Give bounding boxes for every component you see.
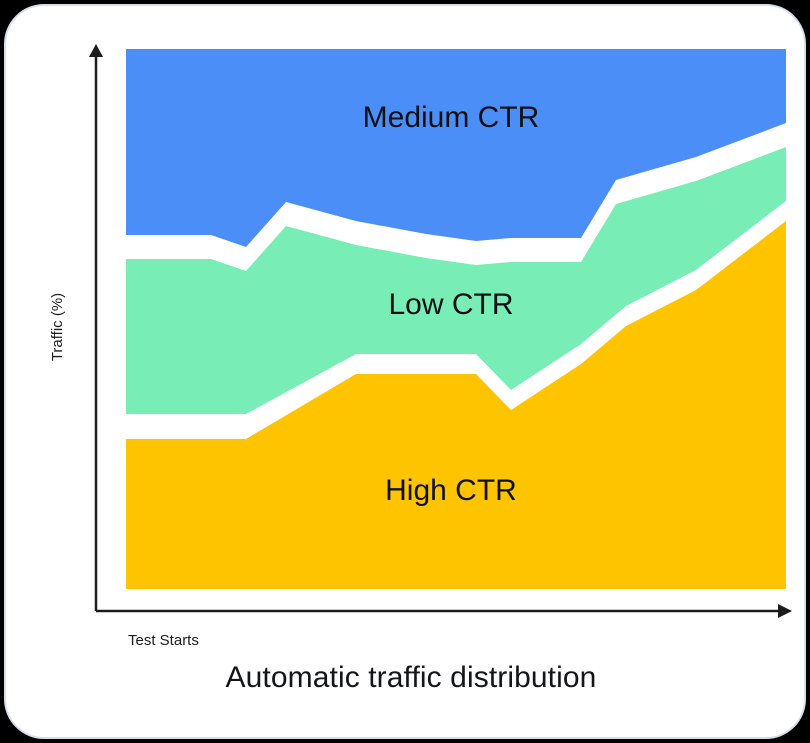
arrow-right-icon bbox=[778, 604, 792, 618]
chart-caption: Automatic traffic distribution bbox=[6, 661, 806, 695]
stacked-area-chart: Medium CTR Low CTR High CTR Traffic (%) … bbox=[6, 6, 806, 739]
y-axis-label: Traffic (%) bbox=[49, 293, 66, 361]
chart-card: Medium CTR Low CTR High CTR Traffic (%) … bbox=[4, 4, 806, 739]
arrow-up-icon bbox=[89, 44, 103, 57]
band-label-low-ctr: Low CTR bbox=[388, 288, 513, 321]
x-axis-label: Test Starts bbox=[128, 632, 199, 649]
band-label-medium-ctr: Medium CTR bbox=[363, 101, 540, 134]
screenshot-root: Medium CTR Low CTR High CTR Traffic (%) … bbox=[0, 0, 810, 743]
band-label-high-ctr: High CTR bbox=[385, 474, 517, 507]
